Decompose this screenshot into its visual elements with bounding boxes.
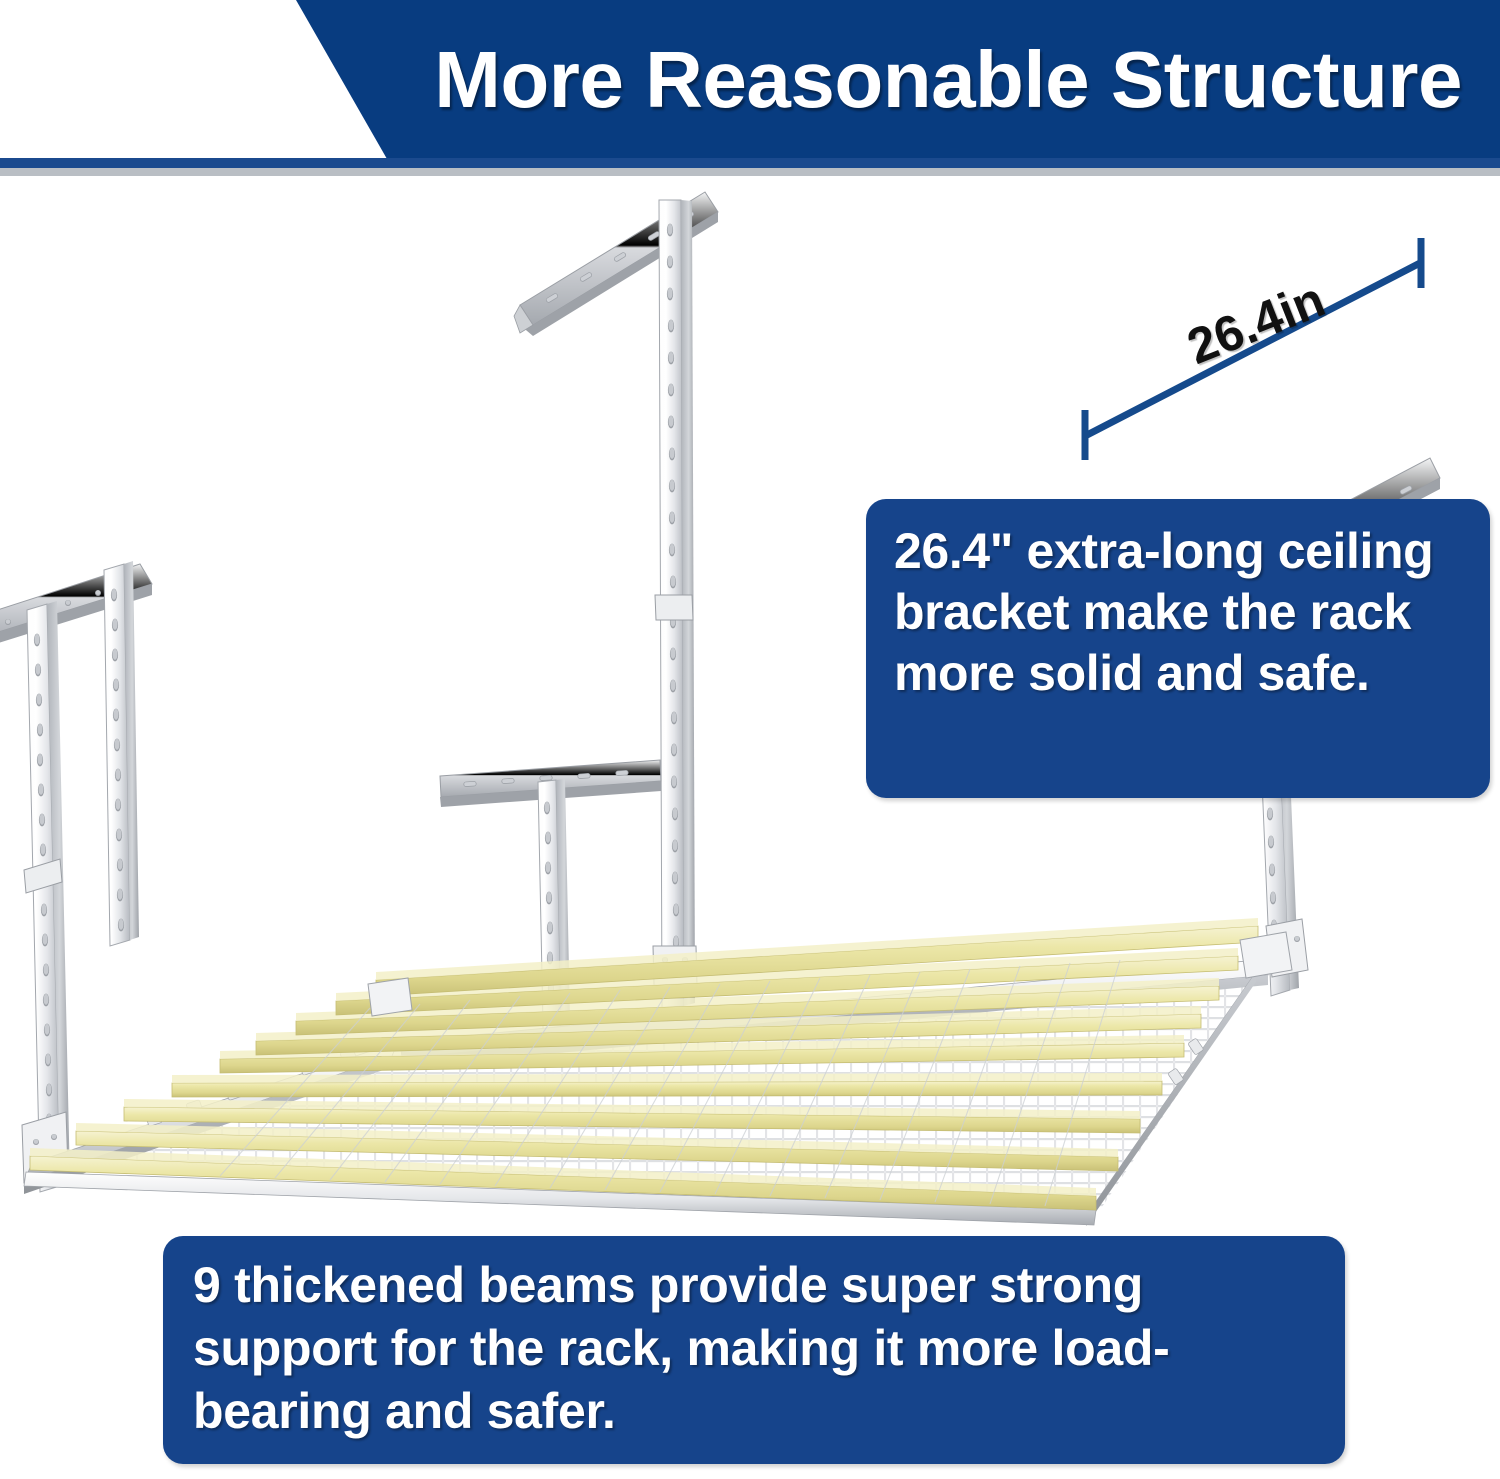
infographic-page: More Reasonable Structure: [0, 0, 1500, 1479]
callout-ceiling-bracket-text: 26.4" extra-long ceiling bracket make th…: [894, 521, 1464, 704]
header-underbar: [0, 158, 1500, 168]
dimension-line: [1085, 238, 1422, 460]
callout-thickened-beams: 9 thickened beams provide super strong s…: [163, 1236, 1345, 1464]
rack-deck: [24, 918, 1292, 1226]
vertical-post-center: [653, 200, 697, 1008]
vertical-post-rear-left: [104, 561, 139, 946]
vertical-post-left: [22, 601, 70, 1192]
callout-ceiling-bracket: 26.4" extra-long ceiling bracket make th…: [866, 499, 1490, 798]
page-title: More Reasonable Structure: [0, 0, 1480, 160]
callout-thickened-beams-text: 9 thickened beams provide super strong s…: [193, 1254, 1319, 1443]
header-banner: More Reasonable Structure: [0, 0, 1500, 176]
